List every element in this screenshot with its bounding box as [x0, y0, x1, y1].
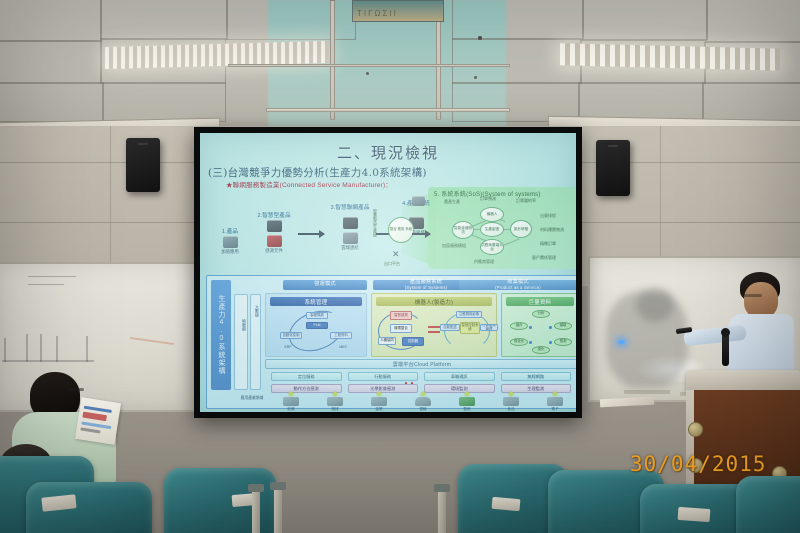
whiteboard-marking — [2, 360, 94, 362]
platform-icon — [412, 196, 425, 206]
flow-arrow — [412, 233, 430, 235]
rail-label: 物聯網 — [235, 319, 247, 331]
whiteboard-marking — [86, 336, 88, 362]
cross-icon: ✕ — [392, 249, 400, 260]
industry-item: 紡織 — [269, 392, 313, 412]
seat-post-cap — [270, 482, 286, 490]
arch-chip: PLM — [306, 322, 328, 329]
sos-top-label: 訂單履約率 — [516, 198, 536, 204]
service-row-connectivity: 定位服務 行動服務 車聯通訊 無線網路 — [271, 372, 571, 381]
arch-chip: 分析 — [532, 310, 550, 318]
sos-node: 供應商雲端平台 — [480, 239, 504, 255]
seat-post-cap — [434, 484, 450, 492]
arch-panel-big-data: 巨量資料 分析 儲存 擷取 視覺化 預測 優化 — [501, 293, 576, 357]
whiteboard-marking — [130, 337, 174, 345]
flow-stage-number: 1.產品 — [210, 227, 250, 235]
medical-icon — [459, 397, 475, 406]
flow-stage-1: 1.產品 加值應用 — [210, 227, 250, 255]
ceiling-tile — [0, 82, 104, 122]
arch-chip: 智慧控制系統 — [460, 322, 480, 334]
arch-panel-system-management: 系統管理 製程規劃 PLM 自動化控制 工程資料 ERP MES — [265, 293, 367, 357]
wall-speaker-right — [596, 140, 630, 196]
ceiling-tile — [706, 0, 800, 42]
architecture-rail-2: 大數據 — [250, 294, 261, 390]
slide-subtitle: (三)台灣競爭力優勢分析(生產力4.0系統架構) — [208, 165, 427, 180]
transport-icon — [415, 397, 431, 406]
industry-dot-icon — [377, 392, 381, 396]
projected-slide: 二、現況檢視 (三)台灣競爭力優勢分析(生產力4.0系統架構) ★聯網服務製造業… — [200, 133, 576, 412]
product-icon — [223, 236, 238, 248]
arch-chip: ERP — [278, 345, 298, 351]
industry-label: 運輸 — [401, 407, 445, 412]
ceiling-sensor-icon — [478, 36, 482, 40]
ceiling-tile — [226, 0, 356, 40]
industry-label: 金屬 — [357, 407, 401, 412]
glasses-icon — [68, 388, 84, 391]
cloud-platform-bar: 雲端平台Cloud Platform — [265, 359, 576, 369]
arch-header-business-model: 商業模式 (Product as a Service) — [459, 280, 576, 290]
arch-panel-robotics: 機器人(製造力) 智慧感測 機電整合 控制器 人機協同 立體視覺影像 智慧控制系… — [371, 293, 497, 357]
laser-dot — [618, 340, 625, 344]
arch-chip: 擷取 — [554, 322, 572, 330]
architecture-vertical-banner: 生產力4.0系統架構 — [211, 280, 231, 390]
arch-panel-title: 系統管理 — [270, 297, 362, 306]
metal-icon — [371, 397, 387, 406]
seat-post — [252, 488, 260, 533]
ceiling-sensor-icon — [474, 76, 477, 79]
ceiling-tile — [0, 40, 102, 84]
loose-paper — [600, 397, 654, 408]
sos-right-label: 出貨排程 — [540, 213, 556, 219]
transfer-arrow-icon — [428, 326, 440, 328]
lecture-hall-photo: ΤΙΓΩΣΙΙ 二、現況檢 — [0, 0, 800, 533]
arch-header-sublabel: (System of Systems) — [405, 286, 447, 290]
ceiling-sign-text: ΤΙΓΩΣΙΙ — [357, 9, 398, 18]
arch-panel-title: 巨量資料 — [506, 297, 574, 306]
ceiling-tile — [452, 0, 584, 40]
flow-extra-label: 智慧製造生產線 — [372, 209, 378, 237]
arch-chip: 機電整合 — [390, 324, 412, 333]
whiteboard-tray — [624, 390, 670, 394]
microphone — [722, 332, 729, 366]
whiteboard-marking — [40, 334, 42, 362]
glasses-icon — [742, 294, 762, 297]
presenter-head — [744, 282, 778, 318]
industry-icon-row: 紡織 機械 金屬 運輸 — [269, 392, 576, 412]
food-icon — [503, 397, 519, 406]
sos-panel: 5. 系統系統(SoS)(System of systems) 農產生產 訂單預… — [428, 187, 576, 269]
arch-chip: 預測 — [554, 338, 572, 346]
flow-stage-2: 2.智慧型產品 感測元件 — [252, 211, 296, 254]
arch-header-label: 營運模式 — [314, 282, 336, 287]
industry-item: 電子 — [533, 392, 576, 412]
sos-right-label: 精緻訂單 — [540, 241, 556, 247]
sos-node: 生產製造 — [480, 222, 504, 237]
industry-label: 食品 — [489, 407, 533, 412]
connected-product-icon — [343, 217, 358, 229]
service-cell: 車聯通訊 — [424, 372, 495, 381]
sos-node: 設計研發 — [510, 220, 532, 238]
wall-speaker-left — [126, 138, 160, 192]
industry-item: 機械 — [313, 392, 357, 412]
arch-header-operating-model: 營運模式 — [283, 280, 367, 290]
flow-stage-number: 3.智慧聯網產品 — [326, 203, 374, 211]
cloud-node-icon — [343, 232, 358, 244]
service-cell: 無線網路 — [501, 372, 572, 381]
industry-label: 機械 — [313, 407, 357, 412]
industry-label: 醫療 — [445, 407, 489, 412]
electronics-icon — [547, 397, 563, 406]
data-node-dot — [529, 326, 532, 329]
seat-tablet — [678, 507, 711, 522]
projection-screen-frame: 二、現況檢視 (三)台灣競爭力優勢分析(生產力4.0系統架構) ★聯網服務製造業… — [194, 127, 582, 418]
arch-header-sublabel: (Product as a Service) — [495, 286, 541, 290]
data-node-dot — [529, 341, 532, 344]
industry-dot-icon — [465, 392, 469, 396]
machinery-icon — [327, 397, 343, 406]
industry-item: 醫療 — [445, 392, 489, 412]
value-chain-flow: 5. 系統系統(SoS)(System of systems) 農產生產 訂單預… — [206, 187, 576, 272]
flow-arrow — [298, 233, 324, 235]
arch-chip: 視覺化 — [510, 338, 528, 346]
arch-chip: 自動化控制 — [280, 332, 302, 339]
arch-chip: 智慧感測 — [390, 311, 412, 320]
flow-stage-number: 2.智慧型產品 — [252, 211, 296, 219]
seat-tablet — [492, 497, 521, 511]
arch-chip: 控制器 — [402, 337, 424, 346]
seat-post — [274, 486, 282, 533]
handout-mark — [82, 412, 107, 422]
architecture-panel: 生產力4.0系統架構 物聯網 大數據 營運模式 產品服務系統 (System o… — [206, 275, 576, 409]
service-cell: 定位服務 — [271, 372, 342, 381]
sos-top-label: 農產生產 — [444, 199, 460, 205]
ceiling-sign: ΤΙΓΩΣΙΙ — [352, 0, 444, 22]
industry-dot-icon — [289, 392, 293, 396]
arch-chip: 製程規劃 — [306, 312, 328, 319]
ceiling: ΤΙΓΩΣΙΙ — [0, 0, 800, 132]
whiteboard-marking — [28, 276, 76, 277]
ceiling-tile — [0, 0, 102, 42]
service-cell: 行動服務 — [348, 372, 419, 381]
slide-title: 二、現況檢視 — [200, 142, 576, 163]
arch-chip: 優化 — [532, 346, 550, 354]
industry-label: 電子 — [533, 407, 576, 412]
arch-chip: 行動載具管理 — [480, 324, 498, 331]
whiteboard-marking — [26, 334, 28, 362]
arch-chip: 人機協同 — [378, 337, 396, 345]
flow-stage-caption: 雲端連結 — [326, 245, 374, 251]
arch-chip: 自動配送 — [440, 324, 460, 331]
flow-stage-caption: 加值應用 — [210, 249, 250, 255]
camera-date-stamp: 30/04/2015 — [630, 452, 766, 476]
industry-dot-icon — [509, 392, 513, 396]
arch-chip: MES — [332, 345, 354, 351]
textile-icon — [283, 397, 299, 406]
handout-document — [75, 397, 121, 445]
data-node-dot — [549, 326, 552, 329]
flow-extra-label: 出口平台 — [384, 261, 400, 267]
sos-bottom-label: 供應商管理 — [474, 259, 494, 265]
industry-dot-icon — [421, 392, 425, 396]
industry-caption: 應用產業領域 — [235, 396, 269, 401]
arch-panel-title: 機器人(製造力) — [376, 297, 492, 306]
ceiling-beam — [266, 108, 510, 112]
integration-circle: 整合 應用 系統 — [388, 217, 414, 243]
sos-top-label: 訂單預測 — [480, 196, 496, 202]
industry-label: 紡織 — [269, 407, 313, 412]
data-node-dot — [549, 341, 552, 344]
sensor-icon — [267, 235, 282, 247]
sos-right-label: 材料運籌物流 — [540, 227, 564, 233]
architecture-rail-1: 物聯網 — [234, 294, 248, 390]
seat-post-cap — [248, 484, 264, 492]
flow-stage-caption: 感測元件 — [252, 248, 296, 254]
presenter-shadow-head — [636, 288, 674, 322]
whiteboard-marking — [4, 338, 6, 362]
arch-chip: 儲存 — [510, 322, 528, 330]
ceiling-sensor-icon — [366, 72, 369, 75]
podium-top — [686, 370, 800, 392]
podium-emblem — [688, 422, 703, 437]
handout-mark — [80, 427, 100, 433]
smart-product-icon — [267, 220, 282, 232]
ceiling-tile — [102, 82, 226, 122]
sos-bottom-label: 加值服務模組 — [442, 243, 466, 249]
whiteboard-marking — [28, 284, 64, 285]
transfer-arrow-icon — [428, 331, 440, 333]
arch-chip: 工程資料 — [330, 332, 352, 339]
seat — [736, 476, 800, 533]
ceiling-tile — [100, 0, 228, 40]
flow-stage-3: 3.智慧聯網產品 雲端連結 — [326, 203, 374, 251]
seat-post — [438, 488, 446, 533]
whiteboard-marking — [56, 336, 58, 362]
sos-node: 智能倉儲物流 — [452, 221, 474, 239]
sos-bottom-label: 客戶關係管理 — [532, 255, 556, 261]
ceiling-tile — [582, 0, 708, 40]
industry-item: 金屬 — [357, 392, 401, 412]
industry-dot-icon — [333, 392, 337, 396]
arch-chip: 立體視覺影像 — [456, 311, 482, 318]
industry-dot-icon — [553, 392, 557, 396]
industry-item: 食品 — [489, 392, 533, 412]
rail-label: 大數據 — [251, 305, 260, 317]
ceiling-beam — [330, 0, 335, 120]
ceiling-beam — [228, 64, 510, 67]
ceiling-tile — [702, 82, 800, 122]
industry-item: 運輸 — [401, 392, 445, 412]
sos-node: 機器人 — [480, 207, 504, 222]
